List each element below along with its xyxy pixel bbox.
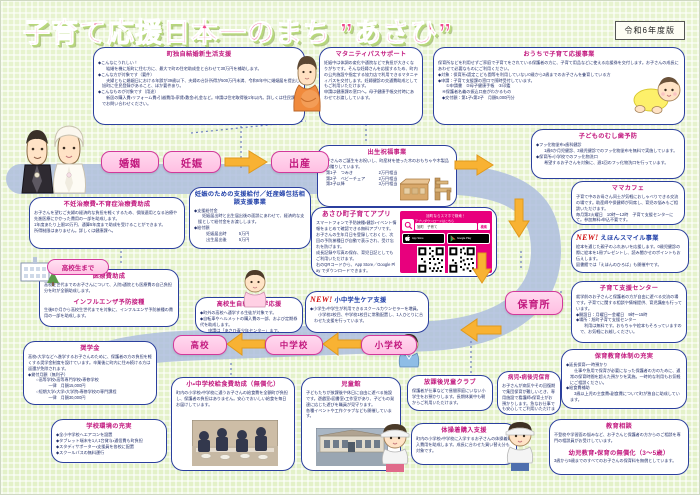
card-body-0: 子育て中のお母さん同士が気軽におしゃべりできる交流の場です。助産師や保健師が同席…	[576, 194, 680, 212]
apple-icon	[405, 235, 411, 242]
app-store-badge-android[interactable]: Google Play	[447, 233, 490, 244]
app-store-android-label: Google Play	[457, 237, 471, 240]
app-store-badge-ios[interactable]: App Store	[402, 233, 445, 244]
app-search-icon	[402, 219, 414, 231]
schoolboy-illustration	[499, 419, 541, 473]
card-body-1: 1歳6か月児健診、3歳児健診でのフッ化物塗布を無料で実施しています。	[536, 148, 680, 154]
card-body-3: 3歳以上児の主食費・副食費について町が独自に助成しています。	[566, 391, 682, 403]
card-title: 放課後児童クラブ	[412, 379, 488, 387]
card-body-0: 妊娠中は体調の変化や通院などで負担が大きくなりがちです。そんな妊婦さんを応援する…	[324, 60, 418, 90]
card-title: 出生祝福事業	[322, 149, 452, 157]
wooden-toy-photo	[400, 178, 430, 202]
card-title: えほんスマイル事業	[601, 235, 659, 242]
new-badge: NEW!	[310, 295, 333, 304]
card-body-5: 一律 月額30,000円	[28, 395, 152, 401]
app-store-ios-label: App Store	[412, 237, 424, 240]
card-body-1: 1年度あたり上限10万円、通算5年度まで助成を受けることができます。	[34, 222, 180, 228]
arrow-left-1	[459, 317, 503, 343]
card-body-3: ◆スクールバスの無料運行	[56, 450, 162, 456]
card-title: 小中学生ケア支援	[335, 297, 387, 304]
card-body-0: 絵本を通じた親子のふれあいを応援します。0歳児健診の際に絵本を1冊プレゼントし、…	[576, 244, 684, 262]
card-title-row: NEW!えほんスマイル事業	[576, 233, 684, 243]
card-jhs-care[interactable]: NEW!小中学生ケア支援 ◆小学生・中学生が利用できるスクールカウンセラーを増員…	[305, 291, 429, 333]
card-title: 町独自結婚新生活支援	[98, 51, 300, 59]
card-title: 子どものむし歯予防	[536, 133, 680, 141]
card-title: ママカフェ	[576, 185, 680, 193]
card-body-0: 高校生世代までのお子さんについて、入院・通院とも医療費の自己負担分を町が全額助成…	[44, 282, 174, 294]
card-body-1: 小学校2校目、中学校1校目に常勤配置し、1人ひとりに合わせた支援を行っています。	[310, 312, 424, 324]
card-sick-child[interactable]: 病児・病後児保育 お子さんが病気やその回復期で集団保育が難しいとき、専用施設で看…	[497, 371, 561, 415]
card-support-center[interactable]: 子育て支援センター 就学前のお子さんと保護者の方が自由に遊べる交流の場です。子育…	[571, 281, 687, 343]
card-school-env[interactable]: 学校環境の充実 ◆全小中学校へエアコンを設置 ◆タブレット端末を1人1台貸与・通…	[51, 419, 167, 463]
page-title: 子育て応援日本一のまち ”あさひ”	[23, 11, 453, 50]
arrow-left-2	[321, 331, 363, 357]
card-body-1: 各種イベントや工作クラブなども開催しています。	[306, 408, 396, 420]
card-title-row: NEW!小中学生ケア支援	[310, 295, 424, 305]
stage-chip-juniorhigh[interactable]: 中学校	[265, 335, 323, 355]
card-body-4: 出生届出後 5万円	[194, 237, 306, 243]
card-body-0: 町内の小学校・中学校に入学するお子さんの体操着購入費用を助成します。成長に合わせ…	[416, 436, 512, 454]
card-title: あさひ町子育てアプリ	[316, 211, 397, 219]
qr-code-ios	[417, 246, 445, 274]
card-body-0: 保護者が仕事などで昼間家庭にいない小学生をお預かりします。長期休業中も朝からご利…	[412, 388, 488, 406]
card-fertility[interactable]: 不妊治療費・不育症治療費助成 お子さんを望むご夫婦の経済的な負担を軽くするため、…	[29, 197, 185, 249]
card-title: 妊娠のための支援給付／妊産婦包括相談支援事業	[194, 191, 306, 207]
card-body-1: 妊娠届出時と出生届出後の面談にあわせて、経済的な支援として給付金をお渡しします。	[194, 213, 306, 225]
school-lunch-photo	[192, 420, 278, 466]
card-marriage-support[interactable]: 町独自結婚新生活支援 ◆こんなにうれしい！ 結婚を機に旭町に住む方に、最大で町の…	[93, 47, 305, 125]
poster-canvas: 子育て応援日本一のまち ”あさひ” 令和6年度版	[0, 0, 700, 495]
schoolkid-illustration	[375, 421, 415, 473]
card-body-2: 生後6か月から高校生世代までを対象に、インフルエンザ予防接種の費用の一部を助成し…	[44, 307, 174, 319]
card-body-0: 保育所などを利用せずご家庭で子育てをされている保護者の方に、子育て用品などに使え…	[438, 60, 680, 72]
card-body-0: 不登校や学習面の悩みなど、お子さんと保護者の方からのご相談を専門の相談員がお受け…	[554, 432, 684, 444]
toddler-illustration	[237, 269, 273, 309]
card-body-2: 成長記録や写真の保存、育児日記としてもご利用いただけます。	[316, 250, 397, 262]
app-search-button[interactable]: 検索	[478, 223, 490, 230]
google-play-icon	[450, 235, 456, 242]
card-title: 体操着購入支援	[416, 427, 512, 435]
card-title: マタニティパスサポート	[324, 51, 418, 59]
card-after-school[interactable]: 放課後児童クラブ 保護者が仕事などで昼間家庭にいない小学生をお預かりします。長期…	[407, 375, 493, 411]
crawling-baby-illustration	[631, 73, 683, 115]
wedding-couple-illustration	[7, 113, 99, 195]
card-title: 奨学金	[28, 345, 152, 353]
card-title-2: インフルエンザ予防接種	[44, 299, 174, 307]
arrow-left-3	[225, 331, 267, 357]
stage-chip-marriage[interactable]: 婚姻	[101, 151, 159, 173]
card-body-1: 仕事や急用で保育が必要になった保護者の方のために、通常の保育時間を超えた預かりを…	[566, 368, 682, 386]
card-body-0: 就学前のお子さんと保護者の方が自由に遊べる交流の場です。子育てに関する相談や情報…	[576, 294, 682, 312]
card-body-2: 所得制限はありません。詳しくは健康課へ。	[34, 228, 180, 234]
app-search-input[interactable]: 旭町 子育て	[415, 223, 477, 230]
stage-chip-elementary[interactable]: 小学校	[361, 335, 417, 355]
card-body-1: ◆自転車やヘルメットの購入費の一部、および定期券代を助成します。	[200, 316, 298, 328]
card-childcare-app[interactable]: あさひ町子育てアプリ スマートフォンで予防接種・健診・イベント情報をまとめて確認…	[311, 207, 497, 277]
card-title: 保育教育体制の充実	[566, 353, 682, 361]
card-title: 不妊治療費・不育症治療費助成	[34, 201, 180, 209]
card-scholarship[interactable]: 奨学金 高校・大学などへ進学するお子さんのために、保護者の方の負担を軽くする奨学…	[23, 341, 157, 405]
card-title-2: 幼児教育・保育の無償化（3〜5歳）	[554, 450, 684, 458]
card-maternity-pass[interactable]: マタニティパスサポート 妊娠中は体調の変化や通院などで負担が大きくなりがちです。…	[319, 47, 423, 125]
stage-chip-pregnancy[interactable]: 妊娠	[163, 151, 221, 173]
card-title: おうちで子育て応援事業	[438, 51, 680, 59]
card-body-3: 夫婦ともに婚姻日における年齢が39歳以下、夫婦の合計所得が500万円未満、令和6…	[98, 78, 300, 90]
card-title: 病児・病後児保育	[502, 375, 556, 382]
card-title: 児童館	[306, 381, 396, 389]
card-body-0: 高校・大学などへ進学するお子さんのために、保護者の方の負担を軽くする奨学金制度を…	[28, 354, 152, 372]
arrow-down-2	[471, 251, 493, 285]
card-body-3: 右のQRコードから、App Store／Google Play でダウンロードで…	[316, 262, 397, 274]
card-title: 子育て支援センター	[576, 285, 682, 293]
card-body-1: 図書館では「えほんのひろば」も開催中です。	[576, 262, 684, 268]
card-body-1: 毎月第2火曜日 10時〜12時 子育て支援センターにて。参加無料・申込不要です。	[576, 212, 680, 224]
card-ehon-smile[interactable]: NEW!えほんスマイル事業 絵本を通じた親子のふれあいを応援します。0歳児健診の…	[571, 229, 689, 273]
card-body-1: お子さんの生年月日を登録しておくと、次回の予防接種日が自動で表示され、受け忘れを…	[316, 232, 397, 250]
card-birth-celebration[interactable]: 出生祝福事業 お子さんのご誕生をお祝いし、町産材を使った木のおもちゃや木製品をお…	[317, 145, 457, 207]
card-title: 教育相談	[554, 423, 684, 431]
card-body-0: お子さんを望むご夫婦の経済的な負担を軽くするため、保険適用となる治療や先進医療に…	[34, 210, 180, 222]
card-body-2: 3歳から5歳までのすべてのお子さんの保育料を無償としています。	[554, 458, 684, 464]
wooden-chair-photo	[432, 176, 454, 202]
card-childcare-system[interactable]: 保育教育体制の充実 ◆延長保育・一時預かり 仕事や急用で保育が必要になった保護者…	[561, 349, 687, 409]
stage-chip-highschool[interactable]: 高校	[173, 335, 227, 355]
card-mama-cafe[interactable]: ママカフェ 子育て中のお母さん同士が気軽におしゃべりできる交流の場です。助産師や…	[571, 181, 685, 225]
card-body-5: 新居の購入費・リフォーム費・引越費用・家賃・敷金・礼金など。申請は住宅取得後1年…	[98, 95, 300, 107]
pregnant-woman-illustration	[287, 53, 327, 115]
stage-chip-nursery[interactable]: 保育所	[505, 291, 563, 315]
card-body-0: お子さんのご誕生をお祝いし、町産材を使った木のおもちゃや木製品をお贈りしています…	[322, 158, 452, 170]
arrow-down-1	[507, 197, 531, 239]
card-body-3: 希望するお子さんを対象に、週1回のフッ化物洗口を行っています。	[536, 160, 680, 166]
arrow-right-2	[453, 153, 495, 177]
card-body-1: 申請は健康課の窓口へ。母子健康手帳交付時にあわせてお渡ししています。	[324, 89, 418, 101]
card-body-3: 利用は無料です。おもちゃや絵本もそろっていますので、お気軽にお越しください。	[576, 323, 682, 335]
app-qr-heading: 旭町ならスマホで検索！	[402, 213, 490, 218]
card-body-0: 町内の小学校・中学校に通うお子さんの給食費を全額町が負担し、保護者の負担はありま…	[176, 390, 290, 408]
card-title: 小・中学校給食費助成（無償化）	[176, 381, 290, 389]
tag-highschool-until: 高校生まで	[47, 259, 109, 275]
new-badge: NEW!	[576, 233, 599, 242]
card-school-lunch[interactable]: 小・中学校給食費助成（無償化） 町内の小学校・中学校に通うお子さんの給食費を全額…	[171, 377, 295, 471]
stage-chip-birth[interactable]: 出産	[271, 151, 329, 173]
year-badge: 令和6年度版	[615, 21, 685, 40]
card-pregnancy-support[interactable]: 妊娠のための支援給付／妊産婦包括相談支援事業 ◆支援給付金 妊娠届出時と出生届出…	[189, 187, 311, 249]
card-body-0: スマートフォンで予防接種・健診・イベント情報をまとめて確認できる無料アプリです。	[316, 220, 397, 232]
card-title: 学校環境の充実	[56, 423, 162, 431]
card-body-0: 子どもたちが放課後や休日に自由に遊べる施設です。遊戯室・図書室・工作室があり、子…	[306, 390, 396, 408]
card-child-dental[interactable]: 子どものむし歯予防 ◆フッ化物塗布・歯科健診 1歳6か月児健診、3歳児健診でのフ…	[531, 129, 685, 179]
arrow-right-1	[223, 149, 269, 175]
card-education-counsel[interactable]: 教育相談 不登校や学習面の悩みなど、お子さんと保護者の方からのご相談を専門の相談…	[549, 419, 689, 475]
card-body-0: お子さんが病気やその回復期で集団保育が難しいとき、専用施設で看護師・保育士がお預…	[502, 383, 556, 415]
